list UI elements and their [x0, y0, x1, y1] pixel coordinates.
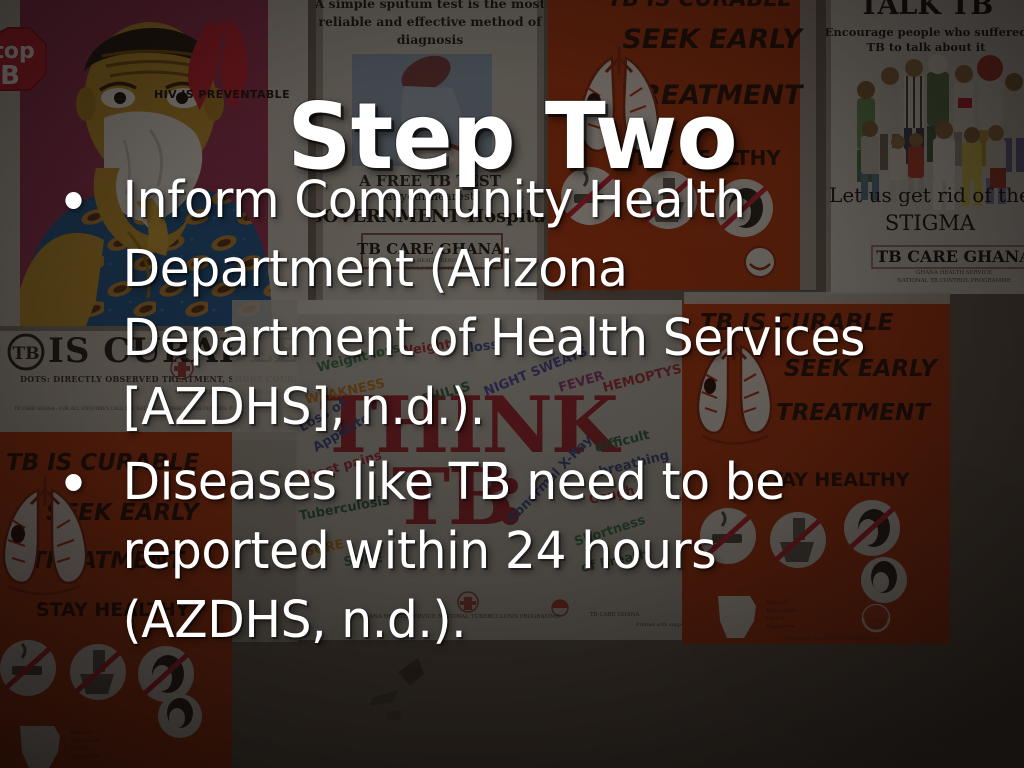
slide-content: Step Two Inform Community Health Departm…: [0, 0, 1024, 768]
list-item: Inform Community Health Department (Ariz…: [52, 166, 912, 442]
bullet-text: Inform Community Health Department (Ariz…: [123, 171, 865, 437]
bullet-dot-icon: [65, 192, 81, 209]
bullet-list: Inform Community Health Department (Ariz…: [52, 166, 952, 661]
list-item: Diseases like TB need to be reported wit…: [52, 448, 912, 655]
presentation-slide: top B: [0, 0, 1024, 768]
bullet-dot-icon: [65, 474, 81, 491]
bullet-text: Diseases like TB need to be reported wit…: [123, 453, 785, 650]
